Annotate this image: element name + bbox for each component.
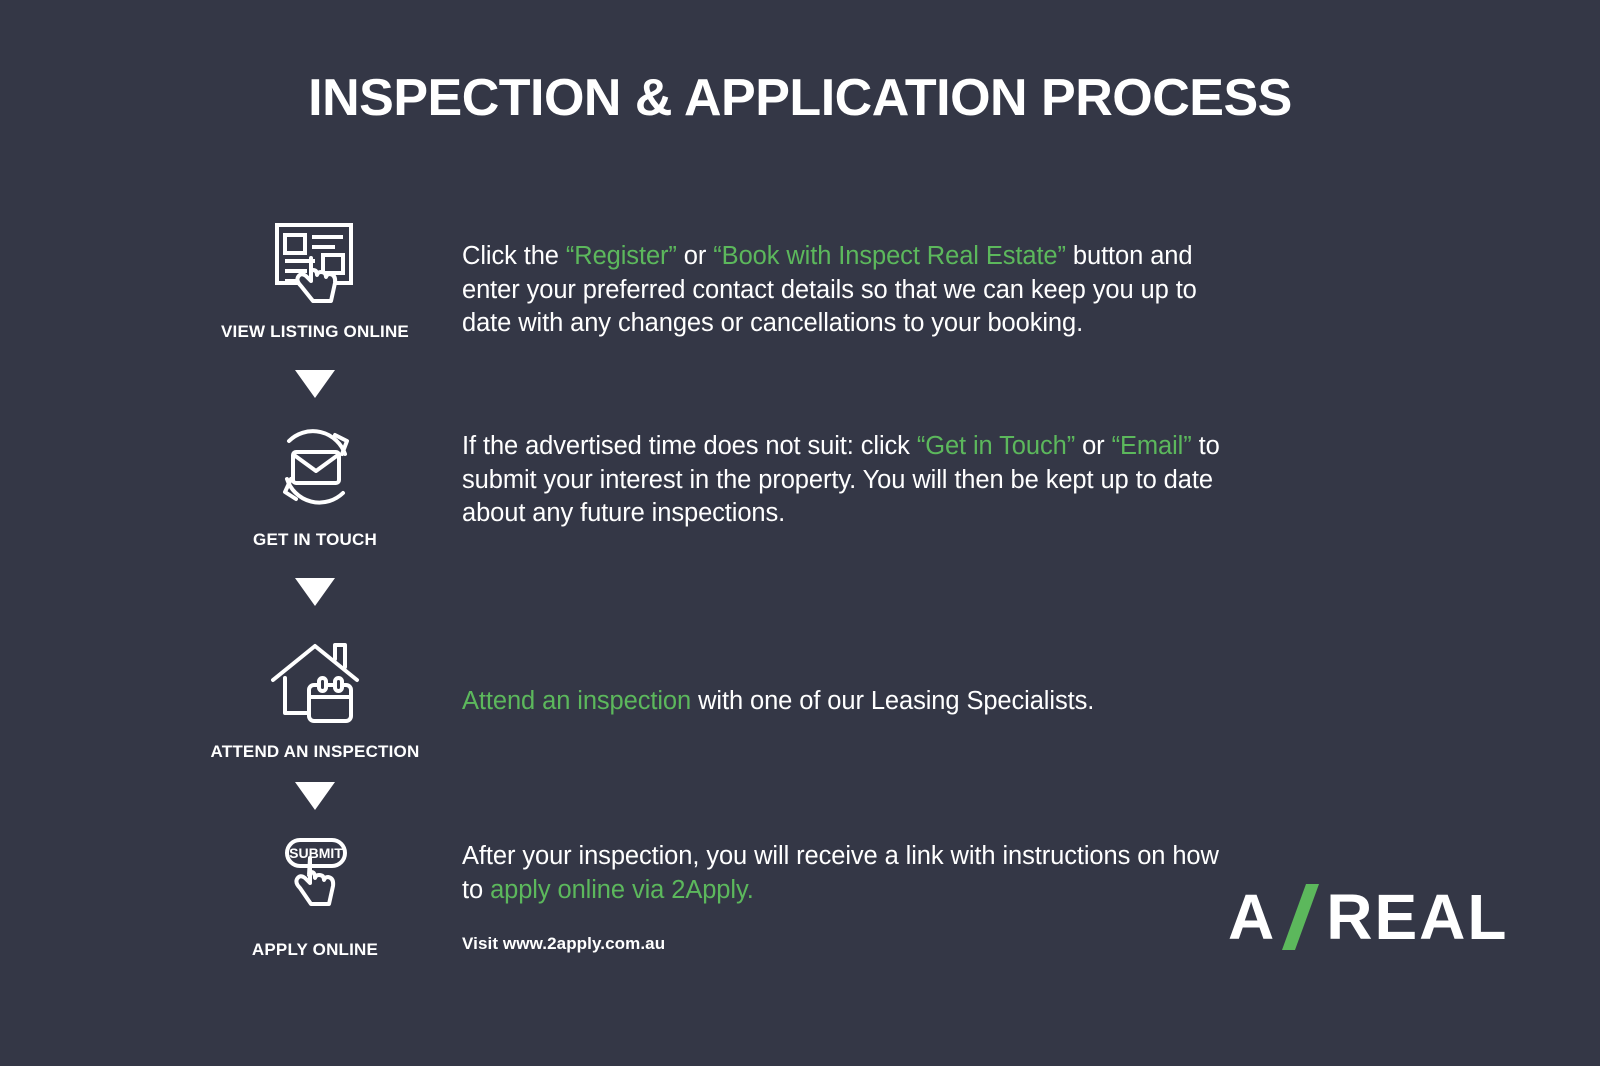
step-2-text-3: “Email” xyxy=(1112,432,1192,460)
step-1-text-2: or xyxy=(677,242,713,270)
step-3-body: Attend an inspection with one of our Lea… xyxy=(462,685,1242,719)
step-3-text-0: Attend an inspection xyxy=(462,687,691,715)
house-calendar-icon xyxy=(200,630,430,730)
infographic-page: INSPECTION & APPLICATION PROCESS xyxy=(0,0,1600,1066)
page-title: INSPECTION & APPLICATION PROCESS xyxy=(0,70,1600,127)
step-2-label: GET IN TOUCH xyxy=(200,530,430,550)
step-2-text-1: “Get in Touch” xyxy=(917,432,1075,460)
step-3-icon-column: ATTEND AN INSPECTION xyxy=(200,630,430,762)
step-4-label: APPLY ONLINE xyxy=(200,940,430,960)
step-3-text-1: with one of our Leasing Specialists. xyxy=(691,687,1094,715)
brand-logo: A REAL xyxy=(1228,880,1508,954)
step-connector-arrow-1 xyxy=(295,370,335,398)
step-1-text-0: Click the xyxy=(462,242,566,270)
submit-button-cursor-icon: SUBMIT xyxy=(200,828,430,928)
step-connector-arrow-3 xyxy=(295,782,335,810)
step-2-text-2: or xyxy=(1075,432,1111,460)
logo-word-real: REAL xyxy=(1326,880,1508,954)
step-4-icon-column: SUBMIT APPLY ONLINE xyxy=(200,828,430,960)
listing-page-cursor-icon xyxy=(200,210,430,310)
step-1-text-1: “Register” xyxy=(566,242,677,270)
logo-letter-a: A xyxy=(1228,880,1276,954)
step-2-icon-column: GET IN TOUCH xyxy=(200,418,430,550)
step-1-icon-column: VIEW LISTING ONLINE xyxy=(200,210,430,342)
submit-button-text: SUBMIT xyxy=(289,845,343,861)
step-2-body: If the advertised time does not suit: cl… xyxy=(462,430,1242,531)
step-3-label: ATTEND AN INSPECTION xyxy=(200,742,430,762)
step-2-text-0: If the advertised time does not suit: cl… xyxy=(462,432,917,460)
step-1-label: VIEW LISTING ONLINE xyxy=(200,322,430,342)
envelope-refresh-icon xyxy=(200,418,430,518)
step-connector-arrow-2 xyxy=(295,578,335,606)
step-4-body: After your inspection, you will receive … xyxy=(462,840,1242,956)
logo-slash-icon xyxy=(1278,884,1324,950)
step-4-text-1: apply online via 2Apply. xyxy=(490,876,754,904)
step-1-text-3: “Book with Inspect Real Estate” xyxy=(713,242,1066,270)
step-1-body: Click the “Register” or “Book with Inspe… xyxy=(462,240,1242,341)
step-4-footnote: Visit www.2apply.com.au xyxy=(462,933,1242,955)
